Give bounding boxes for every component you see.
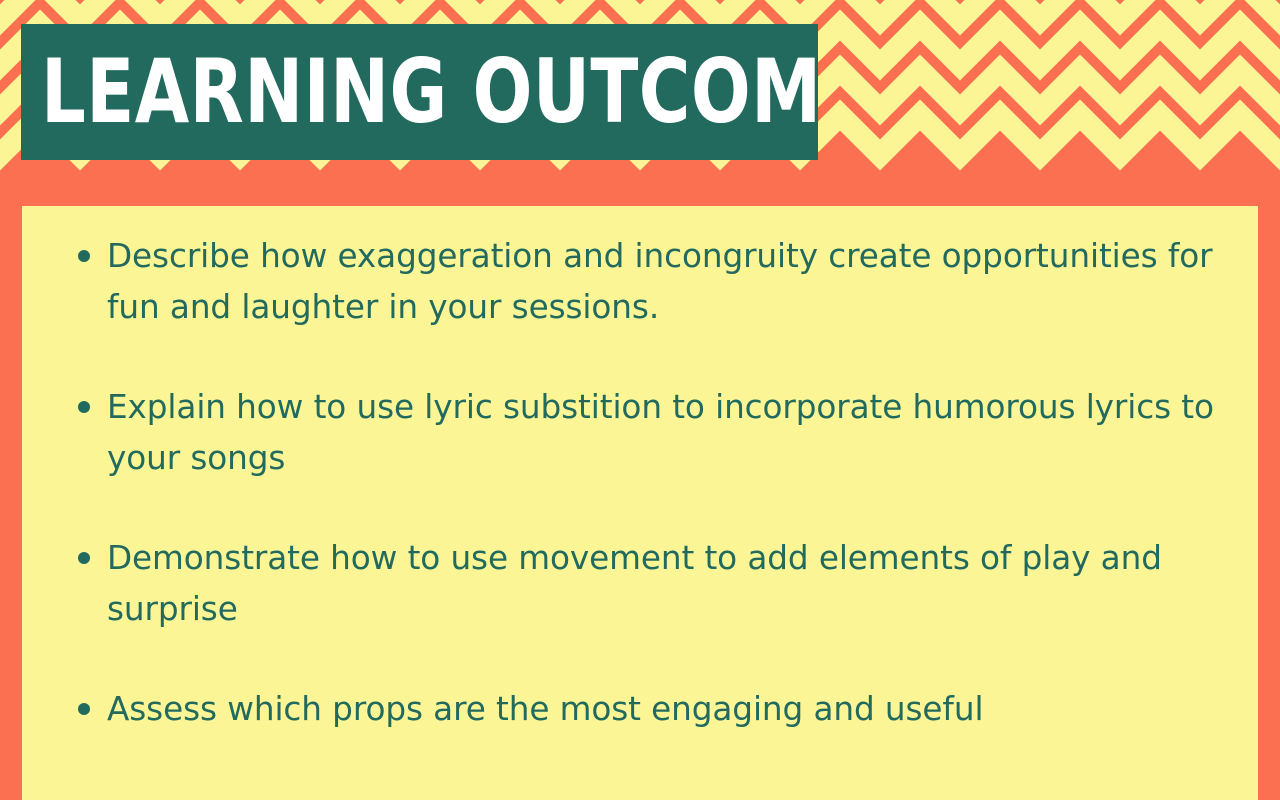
slide-canvas: LEARNING OUTCOMES Describe how exaggerat… xyxy=(0,0,1280,800)
list-item: Demonstrate how to use movement to add e… xyxy=(22,532,1258,634)
list-item-text: Explain how to use lyric substition to i… xyxy=(107,381,1217,483)
bullet-dot-icon xyxy=(78,703,90,715)
list-item: Describe how exaggeration and incongruit… xyxy=(22,230,1258,332)
bullet-dot-icon xyxy=(78,401,90,413)
bullet-dot-icon xyxy=(78,552,90,564)
page-title: LEARNING OUTCOMES xyxy=(21,48,818,136)
list-item: Explain how to use lyric substition to i… xyxy=(22,381,1258,483)
list-item-text: Demonstrate how to use movement to add e… xyxy=(107,532,1217,634)
title-plate: LEARNING OUTCOMES xyxy=(21,24,818,160)
content-panel: Describe how exaggeration and incongruit… xyxy=(22,206,1258,800)
learning-outcomes-list: Describe how exaggeration and incongruit… xyxy=(22,206,1258,734)
list-item: Assess which props are the most engaging… xyxy=(22,683,1258,734)
list-item-text: Assess which props are the most engaging… xyxy=(107,683,1217,734)
bullet-dot-icon xyxy=(78,250,90,262)
list-item-text: Describe how exaggeration and incongruit… xyxy=(107,230,1217,332)
